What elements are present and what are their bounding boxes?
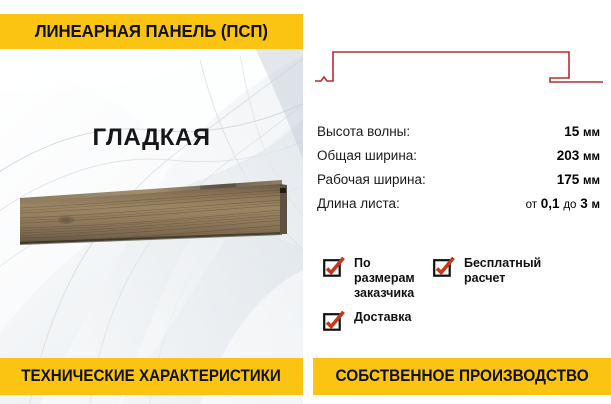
feature-label: Доставка (354, 310, 411, 325)
footer-bar-own-production: СОБСТВЕННОЕ ПРОИЗВОДСТВО (313, 358, 611, 395)
product-subtitle: ГЛАДКАЯ (0, 124, 303, 152)
checkbox-checked-icon (323, 311, 345, 332)
spec-label: Высота волны: (317, 124, 410, 139)
promo-card: ЛИНЕАРНАЯ ПАНЕЛЬ (ПСП) ГЛАДКАЯ (0, 0, 611, 404)
header-title-text: ЛИНЕАРНАЯ ПАНЕЛЬ (ПСП) (35, 21, 268, 42)
right-panel: Высота волны: 15 мм Общая ширина: 203 мм… (303, 0, 611, 404)
checkbox-checked-icon (433, 257, 455, 278)
feature-item: По размерам заказчика (323, 256, 433, 300)
spec-value: 175 мм (557, 172, 600, 187)
spec-row: Рабочая ширина: 175 мм (317, 172, 600, 196)
spec-row: Общая ширина: 203 мм (317, 148, 600, 172)
feature-label: По размерам заказчика (354, 256, 433, 300)
feature-item: Бесплатный расчет (433, 256, 541, 286)
footer-right-text: СОБСТВЕННОЕ ПРОИЗВОДСТВО (335, 367, 588, 386)
feature-item: Доставка (323, 310, 433, 332)
spec-label: Общая ширина: (317, 148, 417, 163)
left-panel: ЛИНЕАРНАЯ ПАНЕЛЬ (ПСП) ГЛАДКАЯ (0, 0, 303, 404)
spec-value: 15 мм (564, 124, 600, 139)
checkbox-checked-icon (323, 257, 345, 278)
footer-left-text: ТЕХНИЧЕСКИЕ ХАРАКТЕРИСТИКИ (22, 367, 282, 386)
feature-label: Бесплатный расчет (464, 256, 541, 286)
spec-row: Высота волны: 15 мм (317, 124, 600, 148)
spec-label: Длина листа: (317, 196, 400, 211)
footer-bar-technical-specs: ТЕХНИЧЕСКИЕ ХАРАКТЕРИСТИКИ (0, 358, 303, 395)
features-list: По размерам заказчика Бесплатный расчет (323, 256, 608, 342)
spec-label: Рабочая ширина: (317, 172, 426, 187)
spec-value: от 0,1 до 3 м (526, 196, 600, 211)
specifications-list: Высота волны: 15 мм Общая ширина: 203 мм… (317, 124, 600, 220)
features-row: Доставка (323, 310, 608, 332)
product-panel-image (14, 176, 291, 248)
panel-cross-section-profile-diagram (313, 30, 605, 90)
spec-value: 203 мм (557, 148, 600, 163)
features-row: По размерам заказчика Бесплатный расчет (323, 256, 608, 300)
header-title-bar: ЛИНЕАРНАЯ ПАНЕЛЬ (ПСП) (0, 14, 303, 49)
spec-row: Длина листа: от 0,1 до 3 м (317, 196, 600, 220)
